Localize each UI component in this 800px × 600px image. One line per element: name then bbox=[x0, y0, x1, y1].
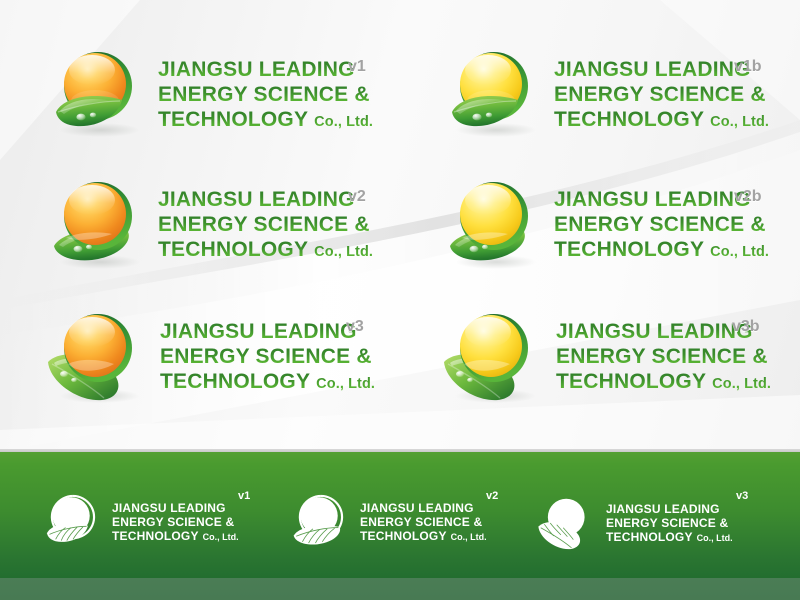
brand-line-1: JIANGSU LEADING bbox=[360, 502, 487, 514]
water-droplet bbox=[74, 246, 83, 252]
water-droplet bbox=[71, 378, 77, 382]
water-droplet bbox=[76, 114, 85, 121]
sphere-highlight bbox=[69, 317, 115, 347]
brand-suffix: Co., Ltd. bbox=[710, 244, 769, 260]
leaf bbox=[56, 96, 122, 126]
brand-line-1: JIANGSU LEADING bbox=[158, 189, 373, 210]
brand-line-1: JIANGSU LEADING bbox=[160, 321, 375, 342]
version-label-v1: v1 bbox=[348, 58, 366, 76]
water-droplet bbox=[467, 378, 473, 382]
version-label-white-v3: v3 bbox=[736, 490, 748, 502]
wordmark-white-v3: JIANGSU LEADING ENERGY SCIENCE & TECHNOL… bbox=[606, 503, 733, 543]
wordmark-white-v1: JIANGSU LEADING ENERGY SCIENCE & TECHNOL… bbox=[112, 502, 239, 542]
brand-line-2: ENERGY SCIENCE & bbox=[112, 516, 239, 528]
logo-mark-white-v2 bbox=[290, 492, 352, 552]
brand-suffix: Co., Ltd. bbox=[697, 533, 733, 543]
sphere-leaf-icon bbox=[48, 176, 148, 272]
logo-lockup-white-v1[interactable]: JIANGSU LEADING ENERGY SCIENCE & TECHNOL… bbox=[42, 492, 239, 552]
brand-suffix: Co., Ltd. bbox=[316, 376, 375, 392]
sphere-leaf-icon bbox=[44, 306, 152, 406]
logo-lockup-v2[interactable]: JIANGSU LEADING ENERGY SCIENCE & TECHNOL… bbox=[48, 176, 373, 272]
brand-line-3: TECHNOLOGY bbox=[158, 109, 308, 130]
sphere-leaf-icon bbox=[444, 46, 544, 142]
water-droplet bbox=[60, 371, 68, 377]
leaf bbox=[452, 96, 518, 126]
sphere-leaf-icon bbox=[42, 492, 104, 552]
brand-line-3: TECHNOLOGY bbox=[606, 531, 693, 543]
sphere-leaf-icon bbox=[440, 306, 548, 406]
logo-lockup-v1[interactable]: JIANGSU LEADING ENERGY SCIENCE & TECHNOL… bbox=[48, 46, 373, 142]
version-label-v2b: v2b bbox=[734, 188, 762, 206]
version-label-white-v1: v1 bbox=[238, 490, 250, 502]
logo-lockup-v2b[interactable]: JIANGSU LEADING ENERGY SCIENCE & TECHNOL… bbox=[444, 176, 769, 272]
sphere-leaf-icon bbox=[290, 492, 352, 552]
brand-suffix: Co., Ltd. bbox=[203, 532, 239, 542]
brand-line-3: TECHNOLOGY bbox=[556, 371, 706, 392]
brand-line-2: ENERGY SCIENCE & bbox=[360, 516, 487, 528]
logo-mark-v1b bbox=[444, 46, 544, 142]
water-droplet bbox=[470, 246, 479, 252]
brand-line-3: TECHNOLOGY bbox=[112, 530, 199, 542]
brand-line-1: JIANGSU LEADING bbox=[112, 502, 239, 514]
version-label-v3: v3 bbox=[346, 318, 364, 336]
brand-line-3: TECHNOLOGY bbox=[160, 371, 310, 392]
water-droplet bbox=[472, 114, 481, 121]
brand-line-3: TECHNOLOGY bbox=[158, 239, 308, 260]
water-droplet bbox=[86, 245, 92, 250]
sphere-leaf-icon bbox=[48, 46, 148, 142]
brand-line-2: ENERGY SCIENCE & bbox=[160, 346, 375, 367]
wordmark-v1: JIANGSU LEADING ENERGY SCIENCE & TECHNOL… bbox=[158, 59, 373, 130]
logo-lockup-v3b[interactable]: JIANGSU LEADING ENERGY SCIENCE & TECHNOL… bbox=[440, 306, 771, 406]
brand-line-2: ENERGY SCIENCE & bbox=[554, 214, 769, 235]
brand-line-1: JIANGSU LEADING bbox=[158, 59, 373, 80]
brand-line-2: ENERGY SCIENCE & bbox=[158, 84, 373, 105]
logo-mark-v2 bbox=[48, 176, 148, 272]
brand-suffix: Co., Ltd. bbox=[314, 244, 373, 260]
logo-mark-v3 bbox=[44, 306, 152, 406]
logo-mark-white-v1 bbox=[42, 492, 104, 552]
brand-line-1: JIANGSU LEADING bbox=[606, 503, 733, 515]
banner-footer-strip bbox=[0, 578, 800, 600]
water-droplet bbox=[456, 371, 464, 377]
logo-mark-white-v3 bbox=[536, 492, 600, 554]
sphere-leaf-icon bbox=[444, 176, 544, 272]
sphere-highlight bbox=[69, 55, 115, 85]
sphere-highlight bbox=[69, 185, 115, 215]
logo-presentation-canvas: JIANGSU LEADING ENERGY SCIENCE & TECHNOL… bbox=[0, 0, 800, 600]
wordmark-v2: JIANGSU LEADING ENERGY SCIENCE & TECHNOL… bbox=[158, 189, 373, 260]
sphere-highlight bbox=[465, 185, 511, 215]
brand-line-3: TECHNOLOGY bbox=[554, 239, 704, 260]
version-label-v1b: v1b bbox=[734, 58, 762, 76]
brand-line-2: ENERGY SCIENCE & bbox=[158, 214, 373, 235]
logo-mark-v2b bbox=[444, 176, 544, 272]
sphere-highlight bbox=[465, 317, 511, 347]
brand-line-2: ENERGY SCIENCE & bbox=[556, 346, 771, 367]
version-label-white-v2: v2 bbox=[486, 490, 498, 502]
logo-mark-v3b bbox=[440, 306, 548, 406]
logo-lockup-v3[interactable]: JIANGSU LEADING ENERGY SCIENCE & TECHNOL… bbox=[44, 306, 375, 406]
version-label-v2: v2 bbox=[348, 188, 366, 206]
wordmark-white-v2: JIANGSU LEADING ENERGY SCIENCE & TECHNOL… bbox=[360, 502, 487, 542]
brand-line-2: ENERGY SCIENCE & bbox=[606, 517, 733, 529]
brand-line-2: ENERGY SCIENCE & bbox=[554, 84, 769, 105]
logo-lockup-white-v3[interactable]: JIANGSU LEADING ENERGY SCIENCE & TECHNOL… bbox=[536, 492, 733, 554]
brand-suffix: Co., Ltd. bbox=[710, 114, 769, 130]
wordmark-v3: JIANGSU LEADING ENERGY SCIENCE & TECHNOL… bbox=[160, 321, 375, 392]
brand-suffix: Co., Ltd. bbox=[712, 376, 771, 392]
brand-line-3: TECHNOLOGY bbox=[554, 109, 704, 130]
logo-lockup-v1b[interactable]: JIANGSU LEADING ENERGY SCIENCE & TECHNOL… bbox=[444, 46, 769, 142]
water-droplet bbox=[482, 245, 488, 250]
logo-mark-v1 bbox=[48, 46, 148, 142]
sphere-leaf-icon bbox=[536, 492, 600, 554]
water-droplet bbox=[486, 113, 492, 118]
version-label-v3b: v3b bbox=[732, 318, 760, 336]
water-droplet bbox=[90, 113, 96, 118]
logo-lockup-white-v2[interactable]: JIANGSU LEADING ENERGY SCIENCE & TECHNOL… bbox=[290, 492, 487, 552]
brand-suffix: Co., Ltd. bbox=[451, 532, 487, 542]
brand-line-3: TECHNOLOGY bbox=[360, 530, 447, 542]
sphere-highlight bbox=[465, 55, 511, 85]
brand-suffix: Co., Ltd. bbox=[314, 114, 373, 130]
